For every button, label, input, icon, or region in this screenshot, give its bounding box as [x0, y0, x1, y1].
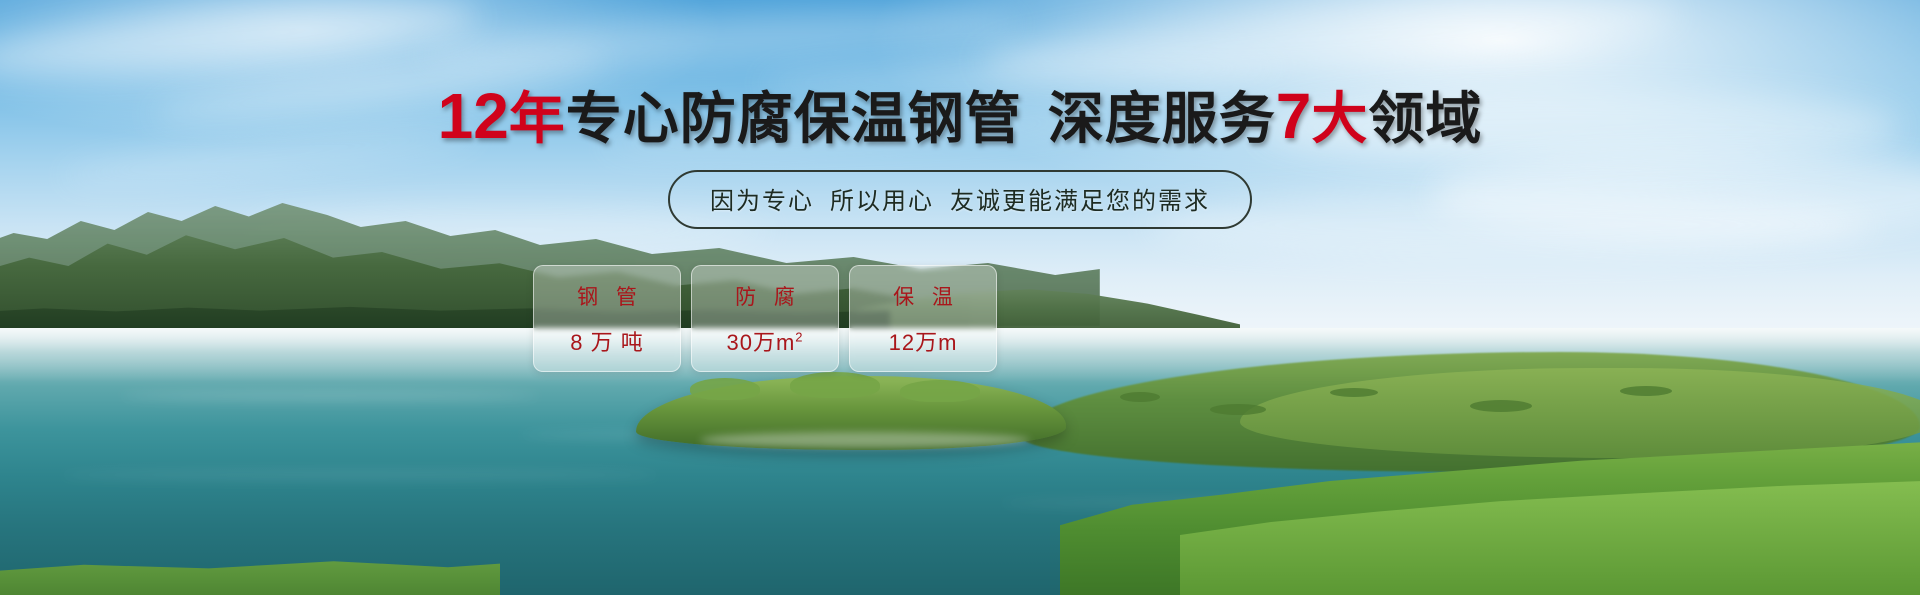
- stat-card-value: 30万m2: [726, 325, 803, 357]
- island-tuft: [900, 380, 980, 402]
- water-ripple: [120, 392, 540, 400]
- subtitle-segment-one: 因为专心: [710, 188, 814, 215]
- stat-card-anticorrosion[interactable]: 防 腐 30万m2: [691, 265, 839, 372]
- stat-card-value-text: 8 万 吨: [570, 330, 643, 355]
- stat-card-label: 钢 管: [571, 281, 643, 311]
- headline-part-one: 专心防腐保温钢管: [566, 87, 1022, 150]
- headline-fields-unit: 大: [1311, 87, 1368, 150]
- stat-card-group: 钢 管 8 万 吨 防 腐 30万m2 保 温 12万m: [533, 265, 997, 372]
- stat-card-steel-pipe[interactable]: 钢 管 8 万 吨: [533, 265, 681, 372]
- subtitle-segment-two: 所以用心: [830, 188, 934, 215]
- stat-card-label: 防 腐: [729, 281, 801, 311]
- stat-card-value: 8 万 吨: [570, 325, 643, 357]
- page-title: 12年专心防腐保温钢管深度服务7大领域: [0, 84, 1920, 148]
- hero-banner: 12年专心防腐保温钢管深度服务7大领域 因为专心所以用心友诚更能满足您的需求 钢…: [0, 0, 1920, 595]
- subtitle-segment-three: 友诚更能满足您的需求: [950, 188, 1210, 215]
- island-tuft: [790, 372, 880, 398]
- marsh-speck: [1620, 386, 1672, 396]
- headline-part-three: 领域: [1368, 87, 1482, 150]
- headline-fields-number: 7: [1276, 80, 1312, 152]
- water-ripple: [60, 470, 660, 480]
- stat-card-insulation[interactable]: 保 温 12万m: [849, 265, 997, 372]
- stat-card-value: 12万m: [889, 325, 958, 357]
- marsh-speck: [1210, 404, 1266, 415]
- marsh-speck: [1330, 388, 1378, 397]
- headline-years-number: 12: [438, 80, 509, 152]
- marsh-speck: [1470, 400, 1532, 412]
- stat-card-value-text: 30万m: [726, 330, 795, 355]
- stat-card-value-superscript: 2: [795, 329, 803, 344]
- marsh-speck: [1120, 392, 1160, 402]
- headline-part-two: 深度服务: [1048, 87, 1276, 150]
- island-shoreline: [700, 432, 1030, 448]
- subtitle-pill: 因为专心所以用心友诚更能满足您的需求: [668, 170, 1252, 229]
- stat-card-label: 保 温: [887, 281, 959, 311]
- headline-years-unit: 年: [509, 87, 566, 150]
- island-tuft: [690, 378, 760, 400]
- stat-card-value-text: 12万m: [889, 330, 958, 355]
